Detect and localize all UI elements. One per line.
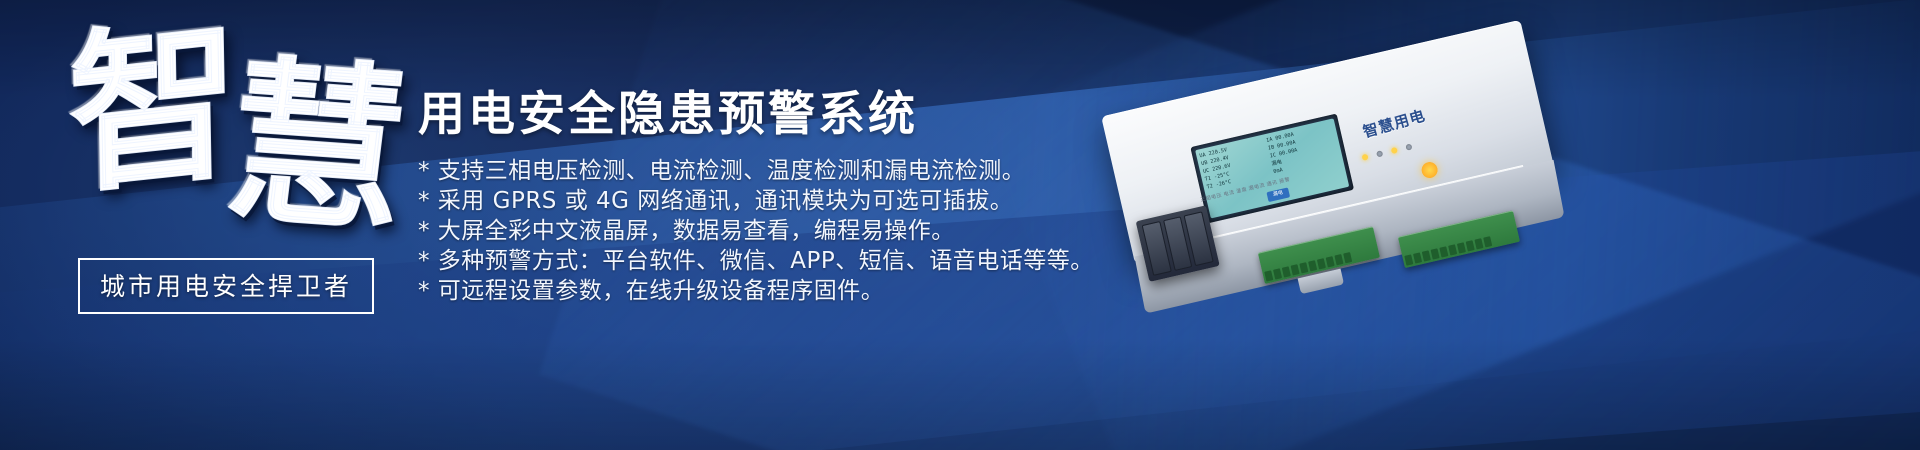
list-item: * 多种预警方式：平台软件、微信、APP、短信、语音电话等等。 bbox=[418, 246, 1098, 276]
terminal-pin bbox=[1439, 246, 1448, 257]
device-indicator-leds bbox=[1361, 144, 1412, 161]
calligraphy-brand: 智 慧 bbox=[60, 14, 410, 264]
terminal-pin bbox=[1264, 270, 1273, 281]
sun-icon bbox=[1420, 160, 1439, 179]
copy-column: 用电安全隐患预警系统 * 支持三相电压检测、电流检测、温度检测和漏电流检测。 *… bbox=[418, 88, 1098, 306]
list-item: * 支持三相电压检测、电流检测、温度检测和漏电流检测。 bbox=[418, 156, 1098, 186]
terminal-pin bbox=[1431, 248, 1440, 259]
device-lcd-screen: UA 220.5V UB 220.4V UC 220.6V T1 -25°C T… bbox=[1190, 114, 1354, 224]
terminal-pin bbox=[1282, 266, 1291, 277]
lcd-status-badge: 漏电 bbox=[1266, 188, 1290, 202]
page-title: 用电安全隐患预警系统 bbox=[418, 88, 1098, 142]
list-item: * 大屏全彩中文液晶屏，数据易查看，编程易操作。 bbox=[418, 216, 1098, 246]
led-indicator bbox=[1391, 147, 1398, 154]
banner-root: 智 慧 城市用电安全捍卫者 用电安全隐患预警系统 * 支持三相电压检测、电流检测… bbox=[0, 0, 1920, 450]
list-item: * 可远程设置参数，在线升级设备程序固件。 bbox=[418, 276, 1098, 306]
terminal-pin bbox=[1466, 240, 1475, 251]
terminal-pin bbox=[1317, 258, 1326, 269]
terminal-pin bbox=[1273, 268, 1282, 279]
terminal-pin bbox=[1326, 256, 1335, 267]
terminal-pin bbox=[1291, 264, 1300, 275]
led-indicator bbox=[1405, 144, 1412, 151]
device-brandmark: 智慧用电 bbox=[1361, 104, 1428, 142]
calligraphy-char-hui: 慧 bbox=[217, 52, 416, 241]
led-indicator bbox=[1376, 150, 1383, 157]
lcd-readout: UA 220.5V UB 220.4V UC 220.6V T1 -25°C T… bbox=[1195, 118, 1349, 218]
terminal-pin bbox=[1448, 244, 1457, 255]
led-indicator bbox=[1361, 154, 1368, 161]
tagline-badge: 城市用电安全捍卫者 bbox=[78, 258, 374, 314]
lcd-right-column: IA 00.00A IB 00.00A IC 00.00A 漏电 0mA bbox=[1265, 122, 1341, 182]
terminal-pin bbox=[1474, 238, 1483, 249]
terminal-pin bbox=[1483, 236, 1492, 247]
terminal-pin bbox=[1422, 250, 1431, 261]
terminal-pin bbox=[1404, 254, 1413, 265]
calligraphy-char-zhi: 智 bbox=[67, 13, 241, 204]
feature-list: * 支持三相电压检测、电流检测、温度检测和漏电流检测。 * 采用 GPRS 或 … bbox=[418, 156, 1098, 306]
terminal-pin bbox=[1308, 260, 1317, 271]
list-item: * 采用 GPRS 或 4G 网络通讯，通讯模块为可选可插拔。 bbox=[418, 186, 1098, 216]
terminal-pin bbox=[1299, 262, 1308, 273]
terminal-pin bbox=[1457, 242, 1466, 253]
terminal-pin bbox=[1334, 254, 1343, 265]
terminal-pin bbox=[1343, 252, 1352, 263]
terminal-pin bbox=[1413, 252, 1422, 263]
